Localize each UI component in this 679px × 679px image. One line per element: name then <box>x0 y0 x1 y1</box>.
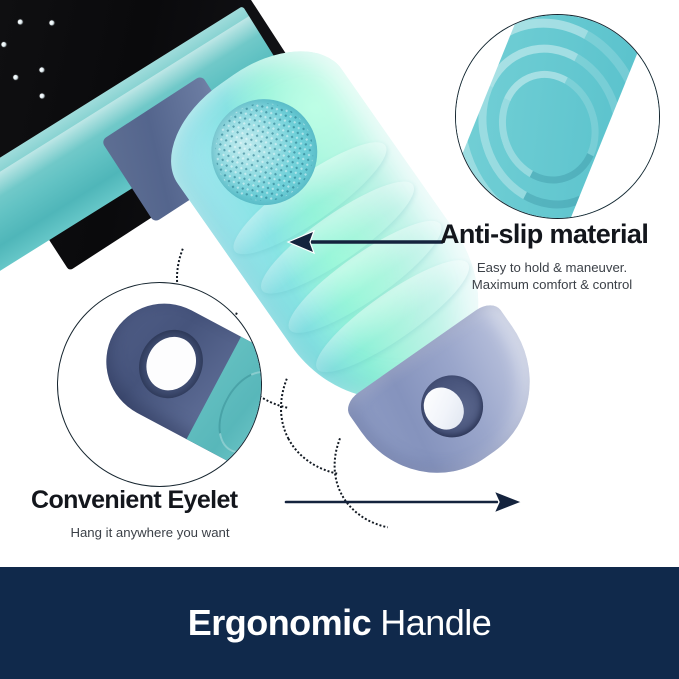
macro-cap-ridge <box>205 360 262 464</box>
water-droplet <box>38 66 45 73</box>
water-droplet <box>0 41 7 48</box>
macro-eyelet-hole <box>127 319 215 410</box>
water-droplet <box>17 19 24 26</box>
water-droplet <box>12 74 19 81</box>
inset-anti-slip-texture <box>455 14 660 219</box>
banner-light-word: Handle <box>380 602 491 643</box>
anti-slip-title: Anti-slip material <box>440 219 648 250</box>
eyelet-arrow <box>284 488 524 516</box>
anti-slip-arrow <box>286 228 446 256</box>
water-droplet <box>39 93 46 100</box>
anti-slip-subtitle: Easy to hold & maneuver. Maximum comfort… <box>432 259 672 293</box>
eyelet-title: Convenient Eyelet <box>31 486 238 515</box>
inset-eyelet-closeup <box>57 282 262 487</box>
banner-heading: ErgonomicHandle <box>188 602 492 644</box>
bottom-banner: ErgonomicHandle <box>0 567 679 679</box>
eyelet-subtitle: Hang it anywhere you want <box>31 524 269 541</box>
product-infographic: Anti-slip material Easy to hold & maneuv… <box>0 0 679 679</box>
banner-bold-word: Ergonomic <box>188 602 372 643</box>
water-droplet <box>48 19 55 26</box>
